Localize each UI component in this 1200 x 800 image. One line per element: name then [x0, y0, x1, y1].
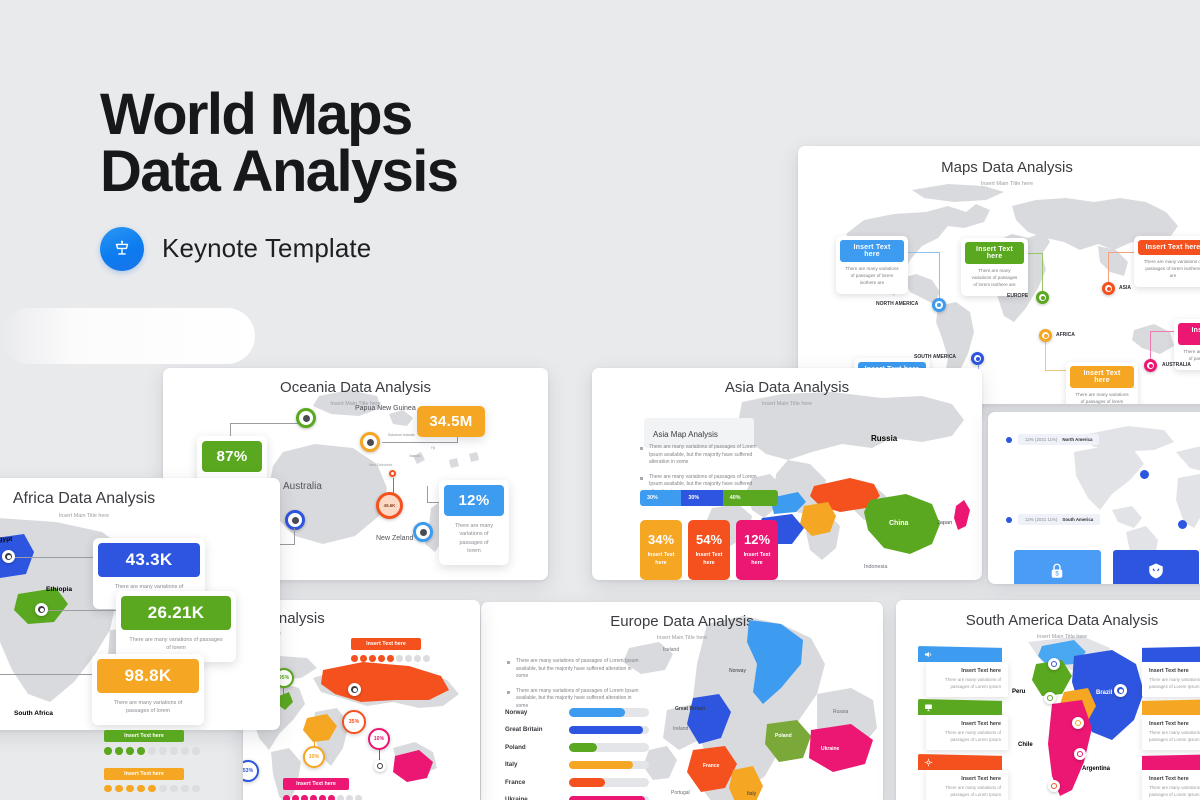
sa-card-left-1-panel: Insert Text here There are many variatio…	[926, 662, 1008, 697]
geo-label-china: China	[889, 520, 908, 527]
geo-label-poland: Poland	[775, 733, 792, 739]
card-africa-433k-value: 43.3K	[98, 543, 200, 577]
callout-asia[interactable]: Insert Text here There are many variatio…	[1134, 236, 1200, 287]
bar-fill-france	[569, 778, 605, 787]
card-oceania-12-value: 12%	[444, 485, 504, 516]
settings-icon	[924, 758, 933, 767]
marker-world-dots-95-value: 95%	[279, 675, 289, 681]
connector-oceania-navy-v	[294, 528, 295, 545]
kpi-map-dot-sa[interactable]	[1178, 520, 1187, 529]
pin-asia[interactable]	[1102, 282, 1115, 295]
callout-north-america-body: There are many variations of passages of…	[840, 262, 904, 290]
world-dots-tag-orange[interactable]: Insert Text here	[351, 638, 430, 662]
label-south-america: SOUTH AMERICA	[914, 354, 956, 360]
hero-badge-pill	[0, 308, 255, 364]
asia-percent-tiles: 34% Insert Text here 54% Insert Text her…	[640, 520, 778, 580]
legend-chip-south-america: 12% (2021 11%) South America	[1018, 514, 1100, 525]
lock-money-icon: $	[1048, 562, 1066, 580]
card-africa-988k-value: 98.8K	[97, 659, 199, 693]
bar-track-norway	[569, 708, 649, 717]
legend-prefix-south-america: 12% (2021 11%)	[1025, 517, 1057, 522]
kpi-map-dot-na[interactable]	[1140, 470, 1149, 479]
sa-card-left-2-body: There are many variations of passages of…	[933, 730, 1001, 743]
pin-oceania-small[interactable]	[389, 470, 396, 477]
pin-sa-colombia[interactable]	[1048, 658, 1060, 670]
slide-africa[interactable]: Africa Data Analysis Insert Main Title h…	[0, 478, 280, 730]
bar-label-poland: Poland	[505, 744, 569, 751]
africa-legend-green-dots	[104, 747, 200, 755]
geo-label-russia-eu: Russia	[833, 709, 848, 715]
pin-north-america[interactable]	[932, 298, 946, 312]
keynote-podium-icon	[100, 227, 144, 271]
label-north-america: NORTH AMERICA	[876, 301, 918, 307]
world-dots-tag-orange-label: Insert Text here	[351, 638, 421, 650]
world-slide-subtitle: Insert Main Title here	[798, 181, 1200, 187]
callout-europe-label: Insert Text here	[965, 242, 1024, 264]
legend-chip-north-america: 12% (2021 11%) North America	[1018, 434, 1099, 445]
hero-title-line2: Data Analysis	[100, 143, 457, 200]
card-oceania-12-body: There are many variations of passages of…	[444, 516, 504, 560]
sa-card-left-2-panel: Insert Text here There are many variatio…	[926, 715, 1008, 750]
presentation-icon	[924, 703, 933, 712]
bar-fill-ukraine	[569, 796, 645, 800]
pin-oceania-newzealand[interactable]	[413, 522, 433, 542]
sa-card-right-3-head: Insert Text here	[1149, 776, 1200, 782]
pin-world-dots-australia[interactable]	[374, 760, 386, 772]
connector-north-america-h	[906, 252, 940, 253]
callout-africa[interactable]: Insert Text here There are many variatio…	[1066, 362, 1138, 404]
asia-tile-12-pct: 12%	[740, 532, 774, 547]
kpi-legend-south-america[interactable]: 12% (2021 11%) South America	[1006, 514, 1100, 525]
label-europe: EUROPE	[1007, 293, 1028, 299]
card-africa-2621k-body: There are many variations of passages of…	[121, 630, 231, 657]
hero-block: World Maps Data Analysis Keynote Templat…	[100, 86, 457, 271]
geo-label-newcaledonia: New Caledonia	[369, 463, 392, 467]
sa-card-right-3-flag	[1142, 754, 1200, 770]
bar-label-ukraine: Ukraine	[505, 796, 569, 800]
world-dots-tag-pink-dots	[283, 795, 362, 800]
bubble-oceania-456k[interactable]: 45.6K	[376, 492, 403, 519]
asia-bullet-1: There are many variations of passages of…	[640, 444, 768, 467]
connector-asia-h	[1108, 252, 1136, 253]
bar-track-ukraine	[569, 796, 649, 800]
bar-label-great-britain: Great Britain	[505, 726, 569, 733]
sa-card-left-2[interactable]: Insert Text here There are many variatio…	[918, 699, 1002, 750]
pin-africa-ethiopia[interactable]	[35, 603, 48, 616]
africa-legend-orange[interactable]: Insert Text here	[104, 768, 200, 793]
geo-label-ethiopia: Ethiopia	[46, 586, 72, 593]
label-africa: AFRICA	[1056, 332, 1075, 338]
world-dots-tag-orange-dots	[351, 655, 430, 662]
bar-track-italy	[569, 761, 649, 770]
connector-oceania-green-h	[230, 423, 303, 424]
callout-north-america-label: Insert Text here	[840, 240, 904, 262]
bar-row-france: France	[505, 778, 649, 787]
geo-label-russia: Russia	[871, 434, 897, 443]
geo-label-ukraine: Ukraine	[821, 746, 839, 752]
callout-africa-body: There are many variations of passages of…	[1070, 388, 1134, 404]
legend-dot-south-america	[1006, 517, 1012, 523]
sa-card-left-3-head: Insert Text here	[933, 776, 1001, 782]
sa-card-right-2[interactable]: Insert Text here There are many variatio…	[1142, 699, 1200, 750]
sa-card-right-3-body: There are many variations of passages of…	[1149, 785, 1200, 798]
sa-card-right-1-body: There are many variations of passages of…	[1149, 677, 1200, 690]
sa-card-left-1[interactable]: Insert Text here There are many variatio…	[918, 646, 1002, 697]
sa-card-right-1-flag	[1142, 646, 1200, 662]
pin-oceania-orange[interactable]	[360, 432, 380, 452]
sa-card-right-2-body: There are many variations of passages of…	[1149, 730, 1200, 743]
africa-legend-orange-dots	[104, 785, 200, 793]
geo-label-great-britain: Great Britain	[675, 706, 705, 712]
geo-label-south-africa: South Africa	[14, 710, 53, 717]
megaphone-icon	[924, 650, 933, 659]
callout-north-america[interactable]: Insert Text here There are many variatio…	[836, 236, 908, 294]
geo-label-ireland: Ireland	[673, 726, 688, 732]
connector-africa-egypt	[15, 557, 97, 558]
bar-fill-norway	[569, 708, 625, 717]
sa-card-left-1-body: There are many variations of passages of…	[933, 677, 1001, 690]
connector-africa-ethiopia	[48, 610, 120, 611]
geo-label-egypt: Egypt	[0, 536, 12, 543]
asia-panel-title: Asia Map Analysis	[653, 430, 718, 439]
bar-fill-great-britain	[569, 726, 643, 735]
pin-oceania-navy[interactable]	[285, 510, 305, 530]
sa-card-left-3-panel: Insert Text here There are many variatio…	[926, 770, 1008, 800]
pin-europe[interactable]	[1036, 291, 1049, 304]
slide-kpi-world[interactable]: 12% (2021 11%) North America 12% (2021 1…	[988, 412, 1200, 584]
pin-oceania-green[interactable]	[296, 408, 316, 428]
asia-segmented-bar: 30% 30% 40%	[640, 490, 778, 506]
marker-world-dots-10-orange[interactable]: 10%	[303, 746, 325, 768]
geo-label-portugal: Portugal	[671, 790, 690, 796]
asia-tile-34[interactable]: 34% Insert Text here	[640, 520, 682, 580]
connector-africa-sa-h	[0, 674, 96, 675]
sa-card-left-2-head: Insert Text here	[933, 721, 1001, 727]
africa-legend-green-label: Insert Text here	[104, 730, 184, 742]
europe-bullet-1: There are many variations of passages of…	[507, 658, 639, 681]
asia-segment-3: 40%	[723, 490, 778, 506]
hero-title-line1: World Maps	[100, 82, 412, 147]
bar-fill-italy	[569, 761, 633, 770]
sa-card-right-2-head: Insert Text here	[1149, 721, 1200, 727]
hero-subtitle: Keynote Template	[162, 233, 371, 264]
pin-sa-brazil[interactable]	[1114, 684, 1127, 697]
sa-card-right-3[interactable]: Insert Text here There are many variatio…	[1142, 754, 1200, 800]
pin-africa-egypt[interactable]	[2, 550, 15, 563]
bar-fill-poland	[569, 743, 597, 752]
africa-legend-strip: Insert Text here Insert Text here	[104, 730, 200, 792]
geo-label-france: France	[703, 763, 719, 769]
card-oceania-345m[interactable]: 34.5M	[417, 406, 485, 437]
slide-asia[interactable]: Asia Data Analysis Insert Main Title her…	[592, 368, 982, 580]
geo-label-papua: Papua New Guinea	[355, 405, 416, 412]
sa-card-right-1-panel: Insert Text here There are many variatio…	[1142, 662, 1200, 697]
asia-segment-1: 30%	[640, 490, 681, 506]
card-africa-988k[interactable]: 98.8K There are many variations of passa…	[92, 654, 204, 725]
africa-legend-orange-label: Insert Text here	[104, 768, 184, 780]
pin-world-dots-russia[interactable]	[348, 683, 361, 696]
bar-row-norway: Norway	[505, 708, 649, 717]
label-asia: ASIA	[1119, 285, 1131, 291]
geo-label-argentina: Argentina	[1082, 766, 1110, 772]
slide-europe[interactable]: Europe Data Analysis Insert Main Title h…	[481, 602, 883, 800]
marker-world-dots-53-value: 53%	[243, 768, 253, 774]
asia-tile-54[interactable]: 54% Insert Text here	[688, 520, 730, 580]
geo-label-australia: Australia	[283, 481, 322, 492]
callout-asia-body: There are many variations of passages of…	[1138, 255, 1200, 283]
geo-label-norway: Norway	[729, 668, 746, 674]
card-africa-2621k[interactable]: 26.21K There are many variations of pass…	[116, 591, 236, 662]
world-dots-tag-pink-label: Insert Text here	[283, 778, 349, 790]
sa-card-left-1-head: Insert Text here	[933, 668, 1001, 674]
bar-track-poland	[569, 743, 649, 752]
legend-label-south-america: South America	[1062, 517, 1093, 522]
marker-world-dots-35[interactable]: 35%	[342, 710, 366, 734]
world-dots-tag-pink[interactable]: Insert Text here	[283, 778, 362, 800]
connector-australia-h	[1150, 331, 1176, 332]
kpi-tile-net-liquidity[interactable]: $ $ 100 M net liquidity	[1014, 550, 1101, 584]
card-africa-988k-body: There are many variations of passages of…	[97, 693, 199, 720]
callout-asia-label: Insert Text here	[1138, 240, 1200, 255]
pin-sa-bolivia[interactable]	[1072, 717, 1084, 729]
asia-tile-12-label: Insert Text here	[740, 552, 774, 568]
connector-oceania-blue-v	[427, 486, 428, 503]
card-africa-2621k-value: 26.21K	[121, 596, 231, 630]
europe-bar-chart: Norway Great Britain Poland Italy France…	[505, 708, 649, 800]
sa-card-left-3-flag	[918, 754, 1002, 770]
card-oceania-12[interactable]: 12% There are many variations of passage…	[439, 480, 509, 565]
legend-label-north-america: North America	[1062, 437, 1092, 442]
kpi-tile-order-backlog[interactable]: $10 M order backlog	[1113, 550, 1200, 584]
asia-tile-34-label: Insert Text here	[644, 552, 678, 568]
connector-world-dots-95	[283, 688, 284, 703]
callout-australia-label: Insert Text here	[1178, 323, 1200, 345]
geo-label-newzealand: New Zeland	[376, 535, 413, 542]
bar-row-poland: Poland	[505, 743, 649, 752]
geo-label-brazil: Brazil	[1096, 690, 1112, 696]
africa-legend-green[interactable]: Insert Text here	[104, 730, 200, 755]
bar-label-france: France	[505, 779, 569, 786]
bar-label-norway: Norway	[505, 709, 569, 716]
connector-europe-h	[1026, 253, 1043, 254]
geo-label-indonesia: Indonesia	[864, 564, 887, 570]
callout-europe[interactable]: Insert Text here There are many variatio…	[961, 238, 1028, 296]
geo-label-vanuatu: Vanuatu	[409, 454, 421, 458]
pin-australia[interactable]	[1144, 359, 1157, 372]
bar-label-italy: Italy	[505, 761, 569, 768]
slide-world-maps[interactable]: Maps Data Analysis Insert Main Title her…	[798, 146, 1200, 404]
bar-row-great-britain: Great Britain	[505, 726, 649, 735]
connector-oceania-orange-h	[382, 442, 458, 443]
slide-south-america[interactable]: South America Data Analysis Insert Main …	[896, 600, 1200, 800]
pin-south-america[interactable]	[971, 352, 984, 365]
pin-sa-peru[interactable]	[1044, 692, 1056, 704]
geo-label-iceland: Iceland	[663, 647, 679, 653]
bar-track-great-britain	[569, 726, 649, 735]
geo-label-chile: Chile	[1018, 742, 1033, 748]
kpi-legend-north-america[interactable]: 12% (2021 11%) North America	[1006, 434, 1099, 445]
sa-card-right-2-panel: Insert Text here There are many variatio…	[1142, 715, 1200, 750]
label-australia: AUSTRALIA	[1162, 362, 1191, 368]
legend-dot-north-america	[1006, 437, 1012, 443]
pin-sa-argentina[interactable]	[1074, 748, 1086, 760]
connector-africa-h	[1045, 370, 1068, 371]
legend-prefix-north-america: 12% (2021 11%)	[1025, 437, 1057, 442]
marker-world-dots-10-pink[interactable]: 10%	[368, 728, 390, 750]
callout-africa-label: Insert Text here	[1070, 366, 1134, 388]
sa-card-left-2-flag	[918, 699, 1002, 715]
connector-world-dots-orange	[314, 732, 315, 747]
bar-track-france	[569, 778, 649, 787]
asia-tile-34-pct: 34%	[644, 532, 678, 547]
bar-row-italy: Italy	[505, 761, 649, 770]
kpi-tile-row: $ $ 100 M net liquidity $10 M order back…	[1014, 550, 1200, 584]
card-oceania-345m-value: 34.5M	[417, 406, 485, 437]
card-oceania-87-value: 87%	[202, 441, 262, 472]
asia-tile-54-label: Insert Text here	[692, 552, 726, 568]
geo-label-fiji: Fiji	[431, 446, 435, 450]
sa-card-right-2-flag	[1142, 699, 1200, 715]
sa-card-left-1-flag	[918, 646, 1002, 662]
hero-subtitle-row: Keynote Template	[100, 227, 457, 271]
pin-africa[interactable]	[1039, 329, 1052, 342]
sa-card-right-3-panel: Insert Text here There are many variatio…	[1142, 770, 1200, 800]
marker-world-dots-10-orange-value: 10%	[309, 754, 319, 760]
bar-row-ukraine: Ukraine	[505, 796, 649, 800]
pin-sa-chile[interactable]	[1048, 780, 1060, 792]
asia-tile-12[interactable]: 12% Insert Text here	[736, 520, 778, 580]
geo-label-peru: Peru	[1012, 689, 1025, 695]
asia-segment-2: 30%	[681, 490, 722, 506]
geo-label-solomon: Solomon Islands	[388, 433, 415, 437]
sa-card-left-3[interactable]: Insert Text here There are many variatio…	[918, 754, 1002, 800]
world-slide-title: Maps Data Analysis	[798, 159, 1200, 176]
marker-world-dots-35-value: 35%	[349, 719, 359, 725]
sa-card-right-1[interactable]: Insert Text here There are many variatio…	[1142, 646, 1200, 697]
europe-bullet-2: There are many variations of passages of…	[507, 688, 639, 711]
sa-card-right-1-head: Insert Text here	[1149, 668, 1200, 674]
page-title: World Maps Data Analysis	[100, 86, 457, 201]
marker-world-dots-10-pink-value: 10%	[374, 736, 384, 742]
asia-tile-54-pct: 54%	[692, 532, 726, 547]
shield-icon	[1147, 562, 1165, 580]
sa-card-left-3-body: There are many variations of passages of…	[933, 785, 1001, 798]
callout-europe-body: There are many variations of passages of…	[965, 264, 1024, 292]
bubble-oceania-456k-value: 45.6K	[384, 503, 396, 508]
oceania-slide-title: Oceania Data Analysis	[163, 379, 548, 396]
geo-label-japan: Japan	[937, 520, 952, 526]
geo-label-italy: Italy	[747, 791, 756, 797]
poster-stage: Maps Data Analysis Insert Main Title her…	[0, 0, 1200, 800]
